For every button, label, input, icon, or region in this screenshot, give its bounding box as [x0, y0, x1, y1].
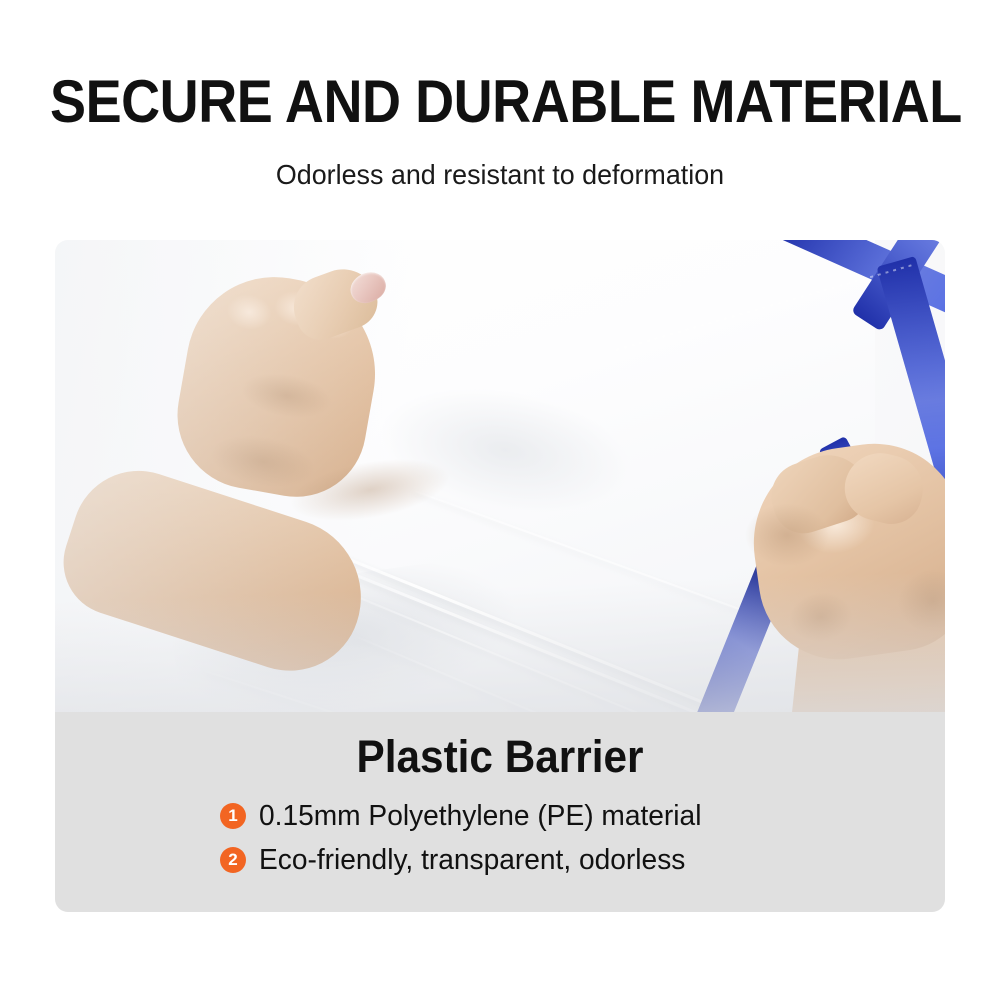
- list-item-label: 0.15mm Polyethylene (PE) material: [259, 799, 701, 833]
- caption-title: Plastic Barrier: [82, 732, 919, 782]
- caption-panel: Plastic Barrier 1 0.15mm Polyethylene (P…: [55, 712, 945, 912]
- right-hand-contact-shadow: [727, 490, 847, 580]
- list-item: 2 Eco-friendly, transparent, odorless: [55, 838, 945, 882]
- list-item-label: Eco-friendly, transparent, odorless: [259, 843, 685, 877]
- feature-list: 1 0.15mm Polyethylene (PE) material 2 Ec…: [55, 794, 945, 882]
- bullet-number-badge: 1: [220, 803, 246, 829]
- product-photo: [55, 240, 945, 712]
- page-subheadline: Odorless and resistant to deformation: [20, 158, 980, 192]
- product-card: Plastic Barrier 1 0.15mm Polyethylene (P…: [55, 240, 945, 912]
- list-item: 1 0.15mm Polyethylene (PE) material: [55, 794, 945, 838]
- page-headline: SECURE AND DURABLE MATERIAL: [50, 72, 950, 132]
- bullet-number-badge: 2: [220, 847, 246, 873]
